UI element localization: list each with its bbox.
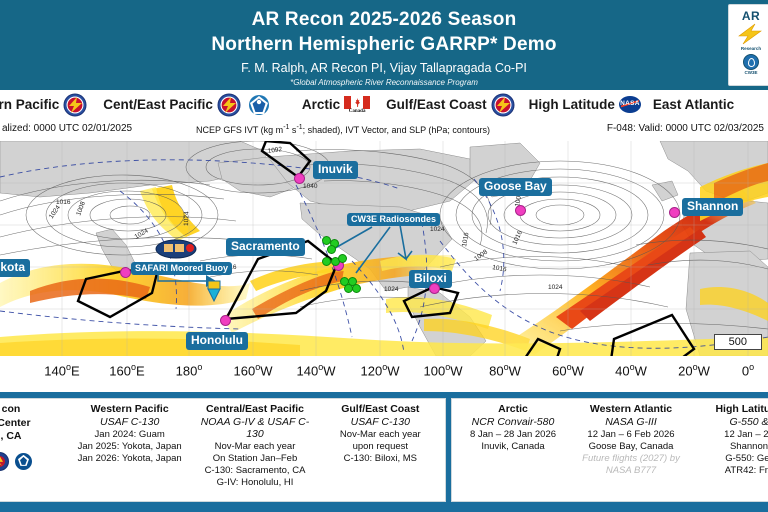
svg-text:1016: 1016 xyxy=(56,199,71,206)
radiosonde-site[interactable] xyxy=(322,257,331,266)
svg-text:1024: 1024 xyxy=(430,226,445,233)
axis-tick: 140oW xyxy=(297,362,336,378)
deployment-col-western-atlantic: Western Atlantic NASA G-III 12 Jan – 6 F… xyxy=(572,403,690,497)
ivt-caption-post: ; shaded), IVT Vector, and SLP (hPa; con… xyxy=(303,125,490,135)
deployment-panel-left: con l Center , CA Western Pacific USAF C… xyxy=(0,398,446,502)
brand-line-1: con xyxy=(2,403,21,417)
axis-tick: 120oW xyxy=(361,362,400,378)
global-ivt-map[interactable]: 1092 1040 1024 1016 1008 1024 1016 1024 … xyxy=(0,141,768,356)
initialized-time: alized: 0000 UTC 02/01/2025 xyxy=(2,123,132,134)
marker-yokota[interactable] xyxy=(120,267,131,278)
marker-goose-bay[interactable] xyxy=(515,205,526,216)
col-detail: 8 Jan – 28 Jan 2026 xyxy=(456,429,570,441)
lightning-bolt-icon xyxy=(729,23,768,45)
col-detail: ATR42: Fre xyxy=(692,465,768,477)
scale-legend: 500 xyxy=(714,334,762,350)
station-label-sacramento[interactable]: Sacramento xyxy=(226,238,305,256)
marker-biloxi[interactable] xyxy=(429,283,440,294)
col-detail: Inuvik, Canada xyxy=(456,441,570,453)
tab-label: High Latitude xyxy=(529,97,615,112)
col-region: Arctic xyxy=(456,403,570,415)
col-detail: Jan 2025: Yokota, Japan xyxy=(69,441,190,453)
tab-label: Arctic xyxy=(302,97,340,112)
radiosonde-site[interactable] xyxy=(352,284,361,293)
tab-east-atlantic[interactable]: East Atlantic xyxy=(650,97,737,112)
axis-tick: 0o xyxy=(742,362,754,378)
tab-high-latitude[interactable]: High Latitude NASA xyxy=(526,96,644,113)
col-region: Central/East Pacific xyxy=(194,403,315,415)
authors-line: F. M. Ralph, AR Recon PI, Vijay Tallapra… xyxy=(0,61,768,75)
page-title: AR Recon 2025-2026 Season xyxy=(0,9,768,31)
tab-arctic[interactable]: Arctic Canada xyxy=(299,96,373,113)
brand-line-2: l Center xyxy=(0,417,31,431)
moored-buoy-emblem xyxy=(156,240,196,258)
axis-tick: 160oW xyxy=(234,362,273,378)
col-aircraft: USAF C-130 xyxy=(320,416,441,428)
tab-label: Gulf/East Coast xyxy=(386,97,487,112)
col-detail: upon request xyxy=(320,441,441,453)
ivt-caption: NCEP GFS IVT (kg m-1 s-1; shaded), IVT V… xyxy=(196,124,490,135)
col-region: Gulf/East Coast xyxy=(320,403,441,415)
cw3e-seal-icon xyxy=(743,54,759,70)
deployment-col-western-pacific: Western Pacific USAF C-130 Jan 2024: Gua… xyxy=(67,403,192,497)
col-detail: G-IV: Honolulu, HI xyxy=(194,477,315,489)
tab-label: Cent/East Pacific xyxy=(103,97,213,112)
station-label-yokota[interactable]: okota xyxy=(0,259,30,277)
col-detail: 12 Jan – 6 Feb 2026 xyxy=(574,429,688,441)
col-detail: Jan 2024: Guam xyxy=(69,429,190,441)
col-aircraft: NOAA G-IV & USAF C-130 xyxy=(194,416,315,440)
ar-recon-logo-card: AR Research CW3E xyxy=(728,4,768,86)
col-detail: On Station Jan–Feb xyxy=(194,453,315,465)
ivt-caption-pre: NCEP GFS IVT (kg m xyxy=(196,125,283,135)
axis-tick: 80oW xyxy=(489,362,521,378)
tab-label: Western Pacific xyxy=(0,97,59,112)
page-header: AR Recon 2025-2026 Season Northern Hemis… xyxy=(0,0,768,90)
station-label-goose-bay[interactable]: Goose Bay xyxy=(479,178,552,196)
col-detail: Shannon xyxy=(692,441,768,453)
logo-ar-text: AR xyxy=(729,9,768,23)
tab-label: East Atlantic xyxy=(653,97,734,112)
map-canvas: 1092 1040 1024 1016 1008 1024 1016 1024 … xyxy=(0,141,768,356)
col-region: High Latitude xyxy=(692,403,768,415)
axis-tick: 100oW xyxy=(424,362,463,378)
col-detail: C-130: Biloxi, MS xyxy=(320,453,441,465)
axis-tick: 40oW xyxy=(615,362,647,378)
axis-tick: 140oE xyxy=(44,362,79,378)
svg-text:1024: 1024 xyxy=(548,284,563,291)
noaa-seal-icon xyxy=(248,94,270,116)
logo-org-text: CW3E xyxy=(729,70,768,75)
axis-tick: 180o xyxy=(176,362,203,378)
deployment-col-central-east-pacific: Central/East Pacific NOAA G-IV & USAF C-… xyxy=(192,403,317,497)
radiosonde-site[interactable] xyxy=(338,254,347,263)
longitude-axis: 140oE 160oE 180o 160oW 140oW 120oW 100oW… xyxy=(0,356,768,386)
col-region: Western Atlantic xyxy=(574,403,688,415)
radiosonde-site[interactable] xyxy=(327,245,336,254)
deployment-col-gulf-east-coast: Gulf/East Coast USAF C-130 Nov-Mar each … xyxy=(318,403,443,497)
tab-western-pacific[interactable]: Western Pacific xyxy=(0,93,90,117)
logo-research-text: Research xyxy=(729,46,768,51)
tab-cent-east-pacific[interactable]: Cent/East Pacific xyxy=(100,93,273,117)
axis-tick: 60oW xyxy=(552,362,584,378)
canada-flag-icon: Canada xyxy=(344,96,370,113)
deployment-col-arctic: Arctic NCR Convair-580 8 Jan – 28 Jan 20… xyxy=(454,403,572,497)
axis-tick: 160oE xyxy=(109,362,144,378)
brand-line-3: , CA xyxy=(1,430,22,444)
col-aircraft: NCR Convair-580 xyxy=(456,416,570,428)
forecast-info-strip: alized: 0000 UTC 02/01/2025 NCEP GFS IVT… xyxy=(0,119,768,141)
deployment-panel-right: Arctic NCR Convair-580 8 Jan – 28 Jan 20… xyxy=(451,398,768,502)
col-detail: Nov-Mar each year xyxy=(320,429,441,441)
col-aircraft: G-550 & xyxy=(692,416,768,428)
axis-tick: 20oW xyxy=(678,362,710,378)
col-detail: 12 Jan – 20 xyxy=(692,429,768,441)
ar-recon-ops-center-brand: con l Center , CA xyxy=(0,403,67,497)
col-detail-faint: NASA B777 xyxy=(574,465,688,477)
usaf-seal-icon xyxy=(217,93,241,117)
col-detail: Nov-Mar each year xyxy=(194,441,315,453)
nasa-logo-icon: NASA xyxy=(619,96,641,113)
col-detail-faint: Future flights (2027) by xyxy=(574,453,688,465)
region-tab-bar: Western Pacific Cent/East Pacific Arctic… xyxy=(0,90,768,120)
svg-text:1040: 1040 xyxy=(303,183,318,190)
annotation-safari-moored-buoy[interactable]: SAFARI Moored Buoy xyxy=(131,262,232,275)
col-aircraft: NASA G-III xyxy=(574,416,688,428)
page-subtitle: Northern Hemispheric GARRP* Demo xyxy=(0,34,768,56)
svg-text:1024: 1024 xyxy=(384,286,399,293)
col-region: Western Pacific xyxy=(69,403,190,415)
brand-logo-row xyxy=(0,452,32,471)
valid-time: F-048: Valid: 0000 UTC 02/03/2025 xyxy=(607,123,764,134)
tab-gulf-east-coast[interactable]: Gulf/East Coast xyxy=(383,93,518,117)
col-aircraft: USAF C-130 xyxy=(69,416,190,428)
marker-honolulu[interactable] xyxy=(220,315,231,326)
station-label-honolulu[interactable]: Honolulu xyxy=(186,332,248,350)
col-detail: C-130: Sacramento, CA xyxy=(194,465,315,477)
noaa-seal-icon xyxy=(15,453,32,470)
usaf-seal-icon xyxy=(63,93,87,117)
marker-shannon[interactable] xyxy=(669,207,680,218)
marker-inuvik[interactable] xyxy=(294,173,305,184)
usaf-seal-icon xyxy=(0,452,9,471)
footnote: *Global Atmospheric River Reconnaissance… xyxy=(0,78,768,87)
col-detail: Goose Bay, Canada xyxy=(574,441,688,453)
svg-text:1024: 1024 xyxy=(183,211,191,226)
col-detail: Jan 2026: Yokota, Japan xyxy=(69,453,190,465)
col-detail: G-550: Ger xyxy=(692,453,768,465)
station-label-shannon[interactable]: Shannon xyxy=(682,198,743,216)
station-label-inuvik[interactable]: Inuvik xyxy=(313,161,358,179)
usaf-seal-icon xyxy=(491,93,515,117)
deployment-summary-bar: con l Center , CA Western Pacific USAF C… xyxy=(0,392,768,512)
deployment-col-high-latitude: High Latitude G-550 & 12 Jan – 20 Shanno… xyxy=(690,403,768,497)
annotation-cw3e-radiosondes[interactable]: CW3E Radiosondes xyxy=(347,213,440,226)
